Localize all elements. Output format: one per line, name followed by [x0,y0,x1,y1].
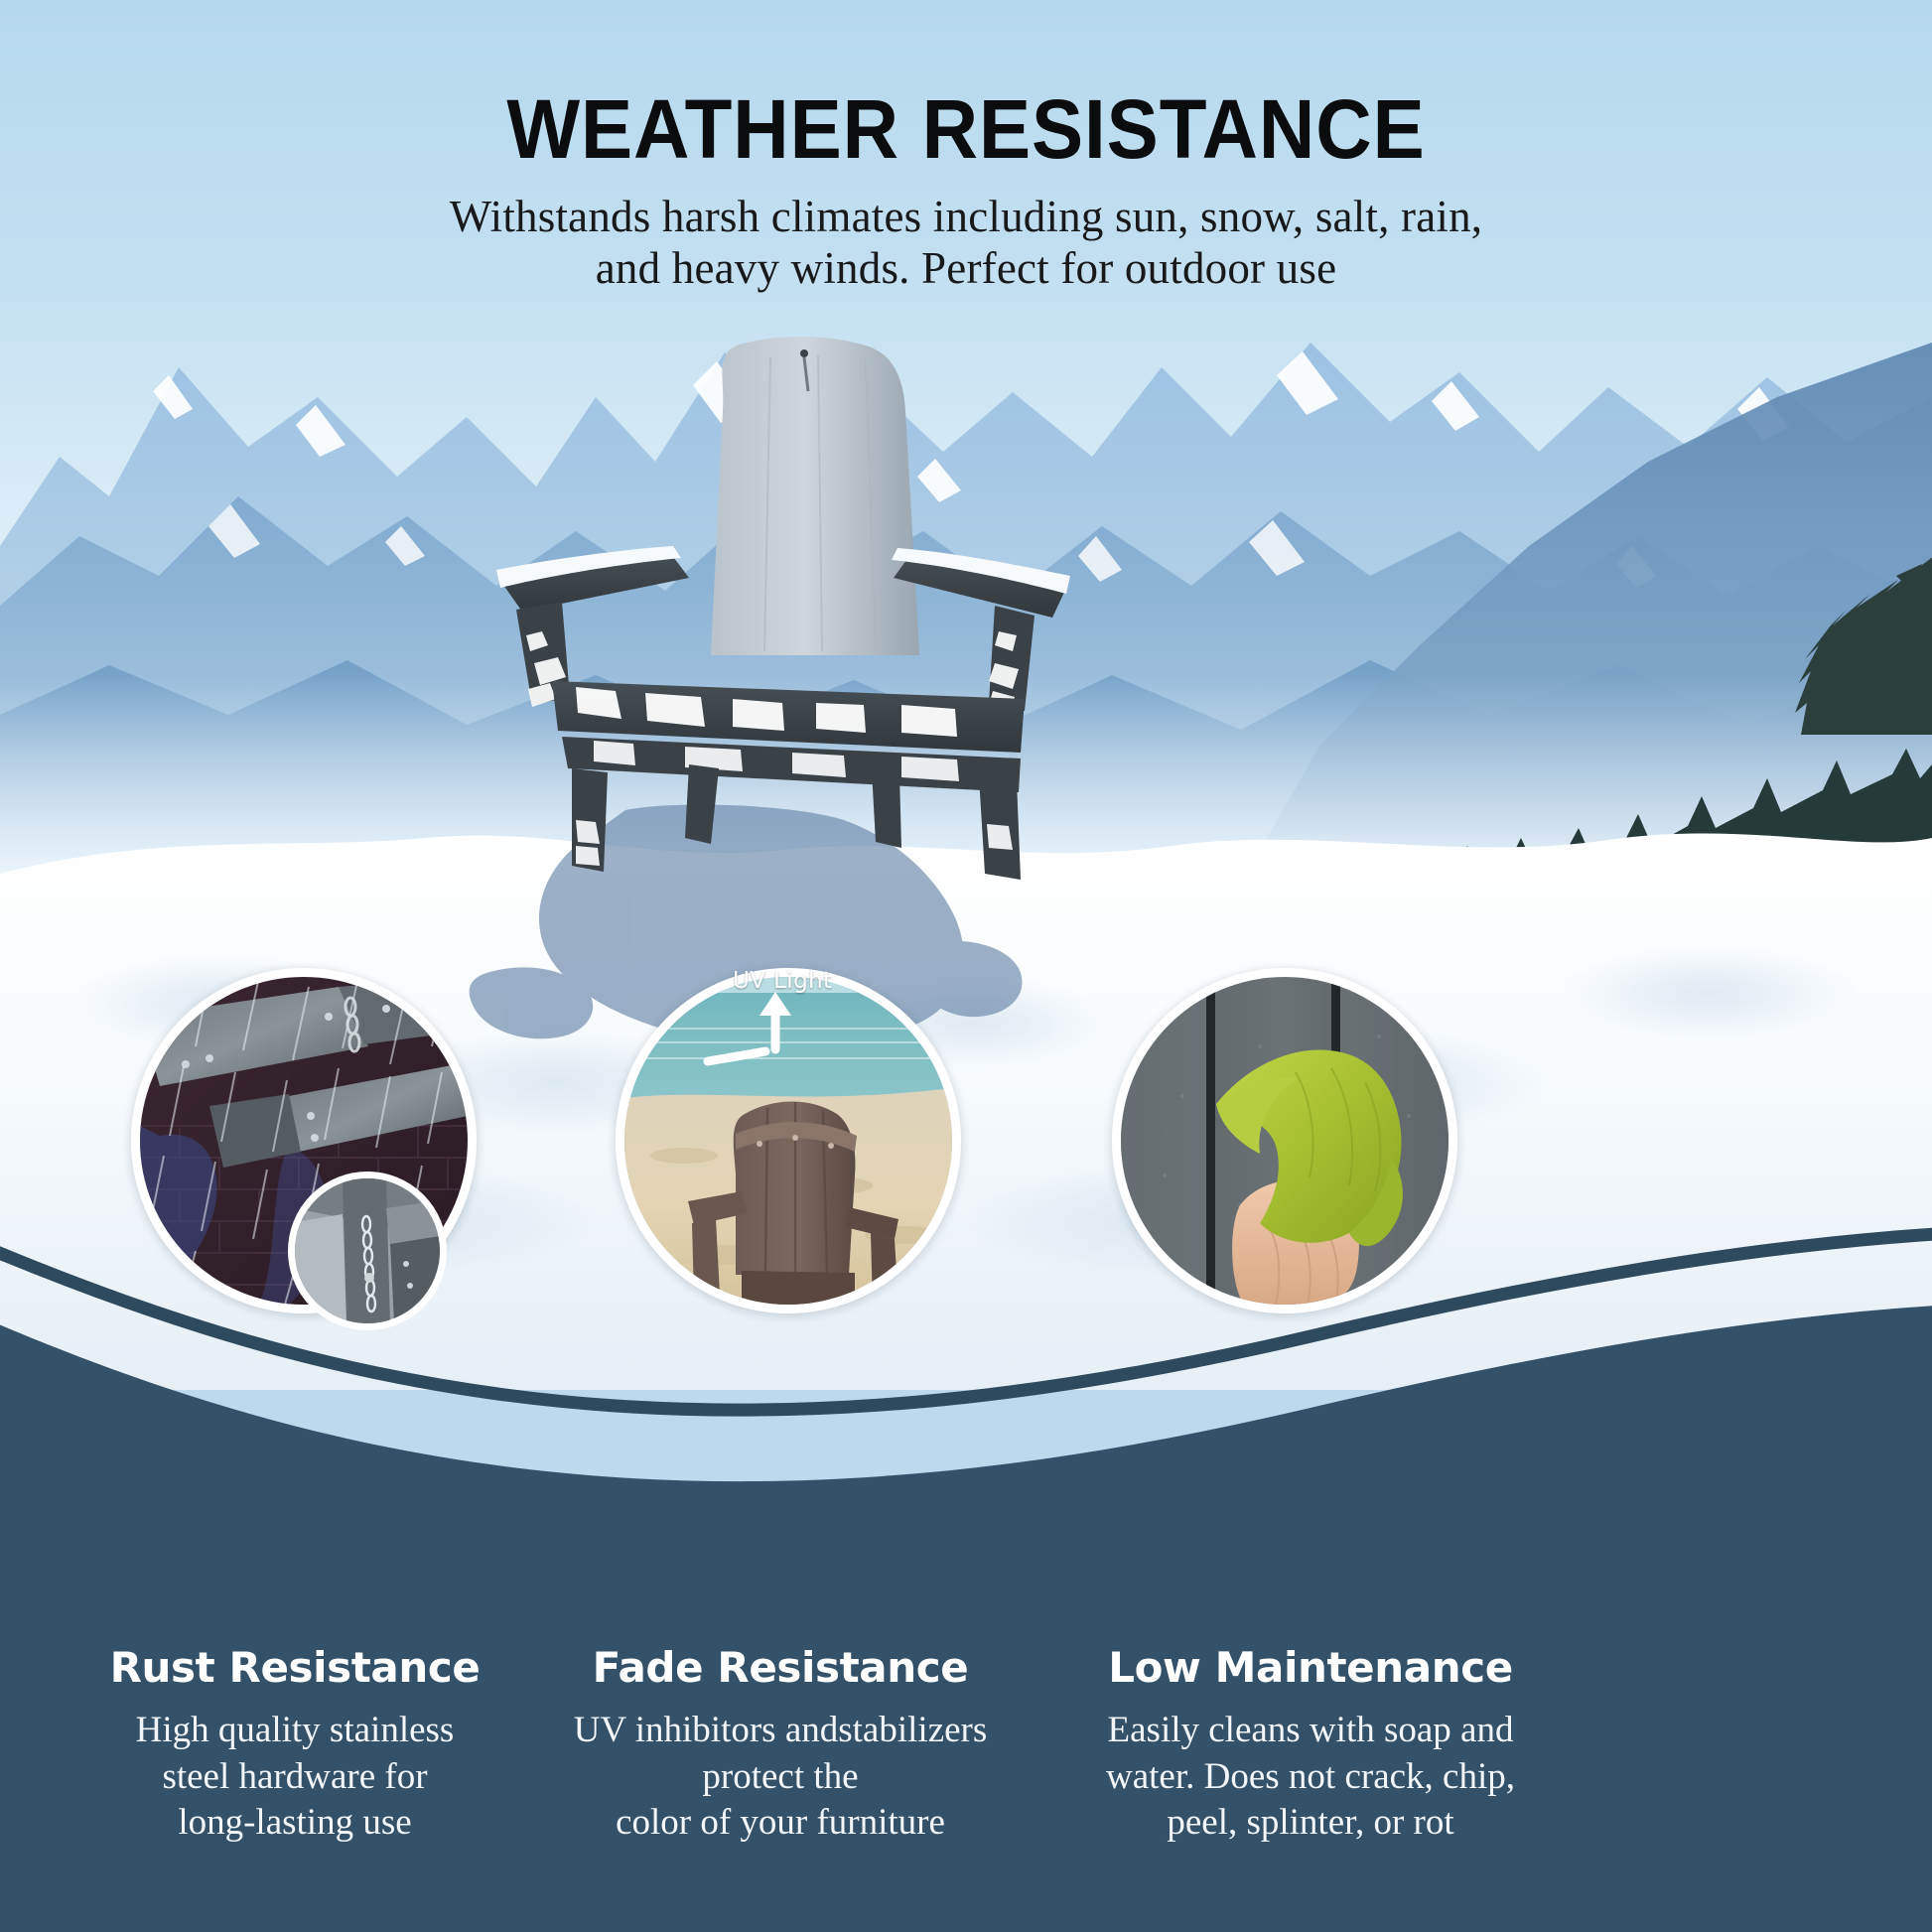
infographic-canvas: UV Light [0,0,1932,1932]
feature-description-rust-resistance: High quality stainless steel hardware fo… [62,1708,528,1847]
feature-title-fade-resistance: Fade Resistance [547,1643,1014,1692]
subtitle-line-1: Withstands harsh climates including sun,… [0,191,1932,242]
feature-title-rust-resistance: Rust Resistance [62,1643,528,1692]
feature-description-fade-resistance: UV inhibitors andstabilizers protect the… [547,1708,1014,1847]
feature-title-low-maintenance: Low Maintenance [1033,1643,1588,1692]
snow-covered-adirondack-chair [477,328,1092,923]
feature-caption-rust-resistance: Rust Resistance High quality stainless s… [62,1643,528,1847]
feature-description-low-maintenance: Easily cleans with soap and water. Does … [1033,1708,1588,1847]
feature-caption-fade-resistance: Fade Resistance UV inhibitors andstabili… [547,1643,1014,1847]
subtitle-line-2: and heavy winds. Perfect for outdoor use [0,242,1932,294]
feature-caption-low-maintenance: Low Maintenance Easily cleans with soap … [1033,1643,1588,1847]
feature-image-fade-resistance [616,968,961,1313]
feature-image-low-maintenance [1112,968,1457,1313]
page-title: WEATHER RESISTANCE [68,81,1864,178]
pine-branch-icon [1747,536,1932,735]
feature-detail-hardware-closeup [288,1172,447,1330]
